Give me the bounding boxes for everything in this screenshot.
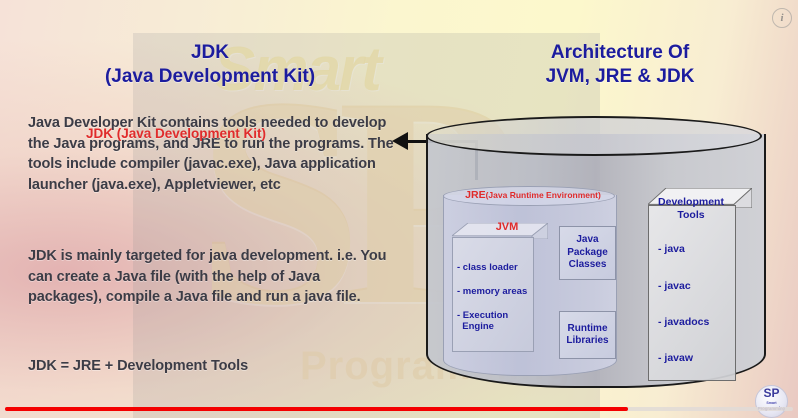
jvm-box: JVM - class loader - memory areas - Exec… bbox=[452, 223, 548, 350]
jdk-heading: JDK (Java Development Kit) bbox=[20, 41, 400, 89]
devtool-javaw: - javaw bbox=[658, 352, 693, 364]
slide-canvas: SP Smart Programming JDK (Java Developme… bbox=[0, 0, 798, 418]
devtool-java: - java bbox=[658, 243, 685, 255]
jdk-purpose-paragraph: JDK is mainly targeted for java developm… bbox=[28, 246, 396, 308]
smart-programming-badge: SP Smart Programming bbox=[755, 385, 788, 418]
video-progress-bar[interactable] bbox=[5, 407, 793, 411]
jdk-heading-line1: JDK bbox=[20, 41, 400, 65]
development-tools-box: DevelopmentTools - java - javac - javado… bbox=[648, 188, 752, 380]
jdk-cylinder-label: JDK (Java Development Kit) bbox=[86, 126, 346, 141]
jvm-title: JVM bbox=[472, 221, 542, 233]
development-tools-title: DevelopmentTools bbox=[652, 196, 730, 222]
architecture-heading-line2: JVM, JRE & JDK bbox=[470, 65, 770, 89]
jre-label: JRE(Java Runtime Environment) bbox=[451, 189, 615, 201]
jvm-item-execution-engine: - Execution Engine bbox=[457, 310, 531, 332]
left-text-column: JDK (Java Development Kit) Java Develope… bbox=[0, 0, 420, 418]
badge-sp-glyph: SP bbox=[756, 387, 787, 399]
jvm-item-class-loader: - class loader bbox=[457, 262, 531, 273]
runtime-libraries-box: RuntimeLibraries bbox=[559, 311, 616, 359]
jvm-item-memory-areas: - memory areas bbox=[457, 286, 531, 297]
java-package-classes-box: JavaPackageClasses bbox=[559, 226, 616, 280]
devtool-javadocs: - javadocs bbox=[658, 316, 709, 328]
badge-smart-text: Smart bbox=[756, 401, 787, 405]
jre-label-bold: JRE bbox=[465, 189, 485, 201]
info-icon[interactable]: i bbox=[772, 8, 792, 28]
video-progress-fill bbox=[5, 407, 628, 411]
architecture-heading: Architecture Of JVM, JRE & JDK bbox=[470, 41, 770, 89]
architecture-heading-line1: Architecture Of bbox=[470, 41, 770, 65]
jre-label-rest: (Java Runtime Environment) bbox=[486, 190, 601, 200]
jdk-cylinder-top-ellipse bbox=[426, 116, 762, 156]
devtool-javac: - javac bbox=[658, 280, 691, 292]
jdk-heading-line2: (Java Development Kit) bbox=[20, 65, 400, 89]
jdk-equation-paragraph: JDK = JRE + Development Tools bbox=[28, 356, 396, 377]
